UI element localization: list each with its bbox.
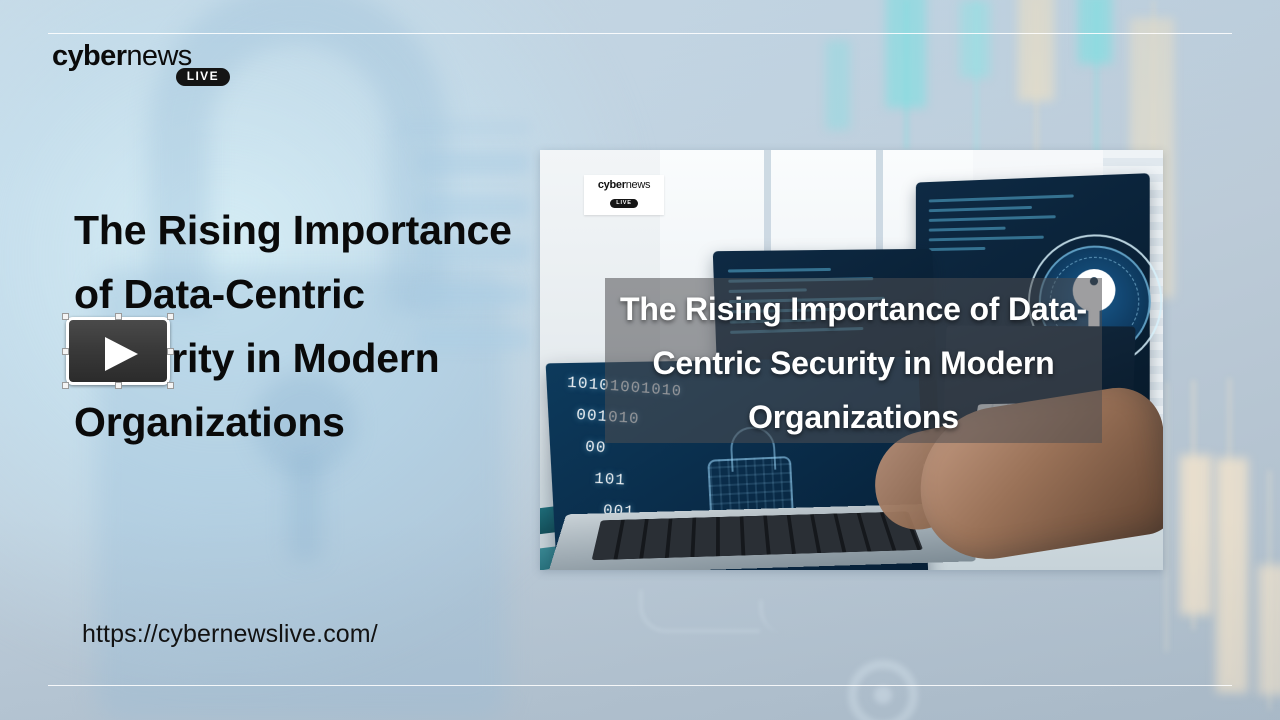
laptop-keyboard: [592, 511, 924, 560]
brand-name-light: news: [126, 40, 191, 72]
brand-name-bold: cyber: [52, 40, 126, 72]
thumb-brand-wordmark: cybernews: [593, 180, 655, 191]
brand-live-badge: LIVE: [176, 68, 230, 86]
site-url-link[interactable]: https://cybernewslive.com/: [82, 618, 378, 650]
slide-canvas: cybernews LIVE The Rising Importance of …: [0, 0, 1280, 720]
resize-handle-bottom-middle[interactable]: [115, 382, 122, 389]
video-thumbnail[interactable]: 10101001010 001010 00 101 001 00 1010 00…: [540, 150, 1163, 570]
resize-handle-bottom-left[interactable]: [62, 382, 69, 389]
thumb-brand-logo: cybernews LIVE: [584, 175, 664, 215]
resize-handle-middle-left[interactable]: [62, 348, 69, 355]
resize-handle-middle-right[interactable]: [167, 348, 174, 355]
brand-logo[interactable]: cybernews LIVE: [52, 42, 232, 94]
bottom-divider: [48, 685, 1232, 686]
thumb-brand-name-light: news: [626, 179, 650, 191]
play-button-surface: [66, 317, 170, 385]
play-button[interactable]: [66, 317, 170, 385]
play-triangle-icon: [105, 337, 138, 371]
brand-wordmark: cybernews: [52, 42, 232, 71]
thumb-caption-text: The Rising Importance of Data-Centric Se…: [605, 282, 1102, 444]
resize-handle-top-left[interactable]: [62, 313, 69, 320]
resize-handle-top-right[interactable]: [167, 313, 174, 320]
thumb-brand-live-badge: LIVE: [610, 199, 637, 208]
resize-handle-top-middle[interactable]: [115, 313, 122, 320]
thumb-brand-name-bold: cyber: [598, 179, 626, 191]
top-divider: [48, 33, 1232, 34]
resize-handle-bottom-right[interactable]: [167, 382, 174, 389]
